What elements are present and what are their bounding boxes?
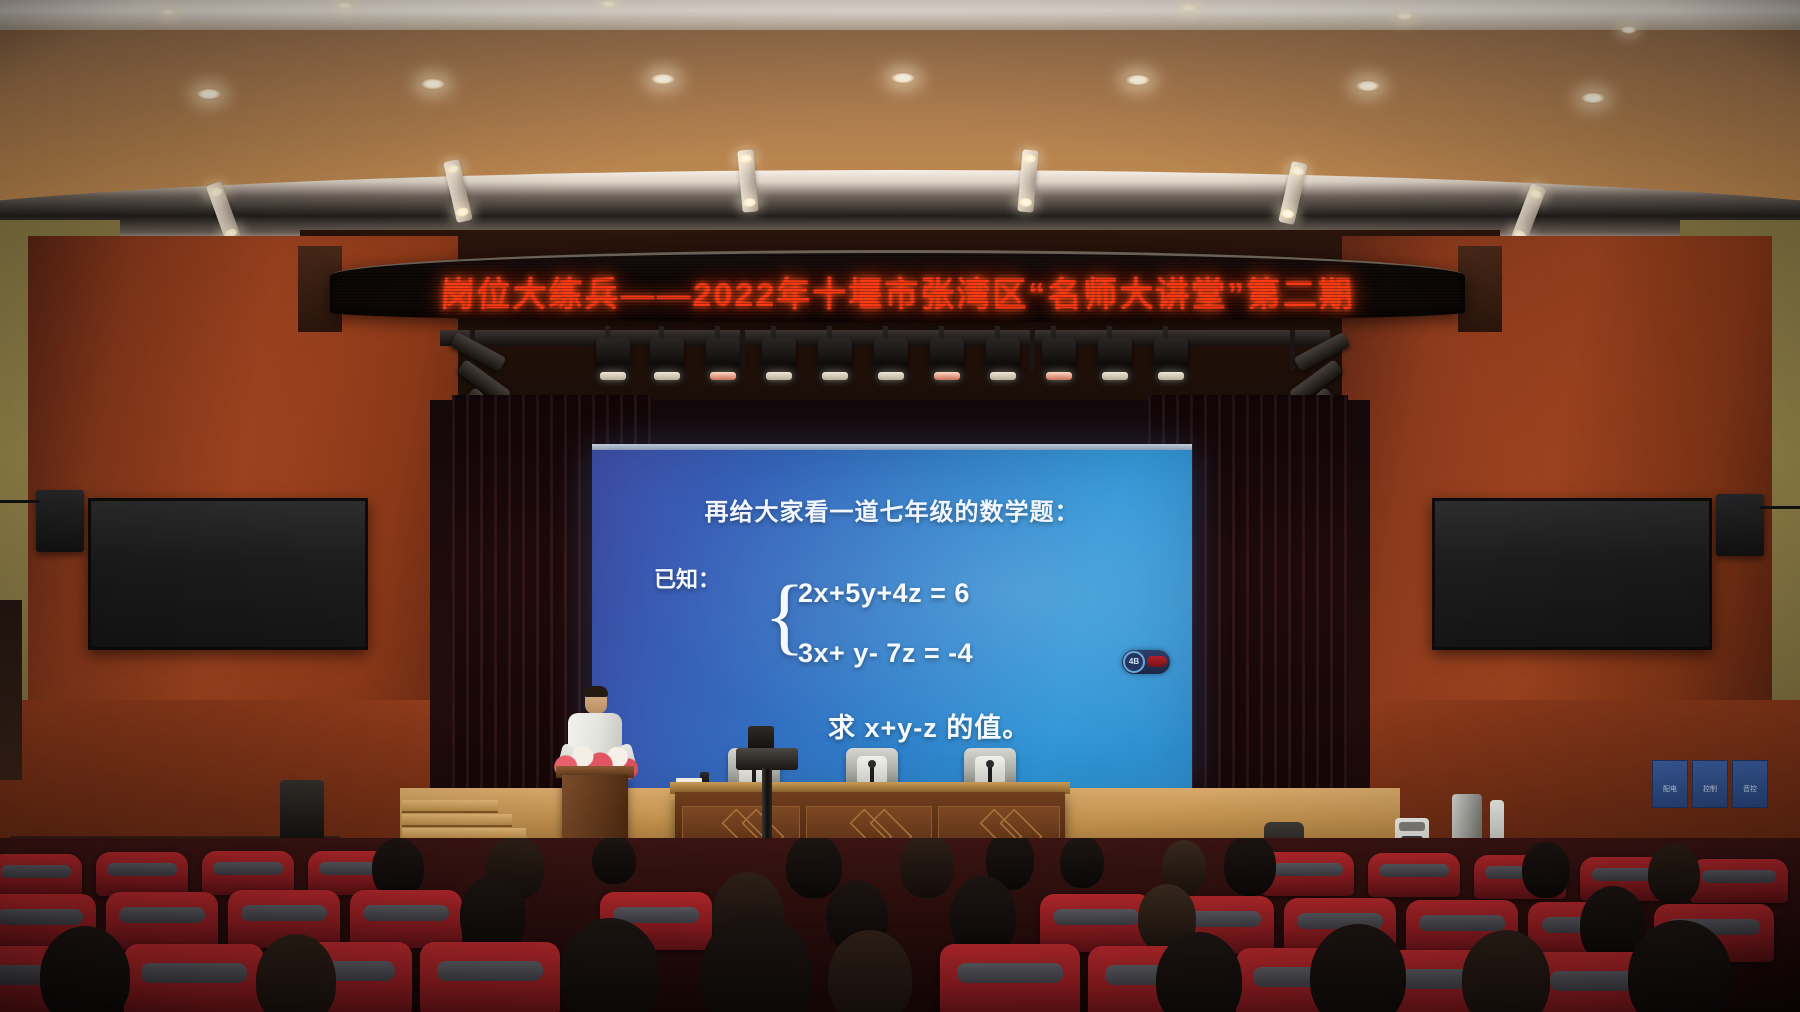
ceiling-spot-light (1620, 26, 1637, 34)
led-banner-panel: 岗位大练兵——2022年十堰市张湾区“名师大讲堂”第二期 (330, 250, 1465, 322)
ceiling-spot-light (1580, 92, 1606, 104)
slide-badge-pill (1147, 656, 1167, 667)
speaker-hair (584, 686, 608, 697)
truss-pole (1030, 330, 1035, 370)
audience-head (900, 838, 954, 898)
wall-control-panel[interactable]: 控制 (1692, 760, 1728, 808)
wall-control-panel-label: 配电 (1653, 784, 1687, 794)
audience-head (1224, 838, 1276, 896)
pa-speaker-right (1716, 494, 1764, 556)
projection-screen: 再给大家看一道七年级的数学题： 已知： { 2x+5y+4z = 6 3x+ y… (592, 450, 1192, 788)
slide-equation-2: 3x+ y- 7z = -4 (798, 638, 973, 669)
ceiling-spot-light (600, 0, 617, 8)
wall-display-left (88, 498, 368, 650)
auditorium-seat[interactable] (106, 892, 218, 950)
wall-control-panel-label: 音控 (1733, 784, 1767, 794)
audience-head (592, 838, 636, 884)
stage-spotlight (930, 338, 964, 382)
auditorium-seat[interactable] (1690, 859, 1788, 903)
stage-spotlight (762, 338, 796, 382)
slide-given-label: 已知： (654, 562, 720, 594)
tripod-head (736, 748, 798, 770)
ceiling-spot-light (1396, 12, 1413, 20)
slide-title: 再给大家看一道七年级的数学题： (592, 492, 1192, 527)
ceiling-spot-light (650, 73, 676, 85)
audience-area (0, 838, 1800, 1012)
audience-head (786, 838, 842, 898)
ceiling-spot-light (160, 8, 177, 16)
stage-spotlight (874, 338, 908, 382)
auditorium-seat[interactable] (202, 851, 294, 895)
auditorium-seat[interactable] (350, 890, 462, 948)
auditorium-seat[interactable] (96, 852, 188, 896)
ceiling-spot-light (420, 78, 446, 90)
audience-head (828, 930, 912, 1012)
stage-spotlight (1098, 338, 1132, 382)
auditorium-seat[interactable] (0, 854, 82, 898)
stage-spotlight (1154, 338, 1188, 382)
auditorium-seat[interactable] (124, 944, 264, 1012)
audience-head (1648, 844, 1700, 904)
stage-spotlight (986, 338, 1020, 382)
stage-spotlight (1042, 338, 1076, 382)
ceiling-band-upper (0, 0, 1800, 30)
pa-mount-left (0, 500, 40, 503)
ceiling-spot-light (1180, 4, 1197, 12)
pa-mount-right (1760, 506, 1800, 509)
ceiling-spot-light (1125, 74, 1151, 86)
ceiling-spot-light (196, 88, 222, 100)
led-banner: 岗位大练兵——2022年十堰市张湾区“名师大讲堂”第二期 (330, 250, 1465, 322)
slide-badge-text: 4B (1123, 651, 1145, 673)
wall-control-panel[interactable]: 音控 (1732, 760, 1768, 808)
audience-head (1522, 842, 1570, 898)
auditorium-seat[interactable] (940, 944, 1080, 1012)
slide-watermark-badge: 4B (1122, 650, 1170, 674)
ceiling-spot-light (890, 72, 916, 84)
audience-head (372, 838, 424, 898)
auditorium-seat[interactable] (420, 942, 560, 1012)
slide-question: 求 x+y-z 的值。 (828, 706, 1030, 745)
pa-speaker-left (36, 490, 84, 552)
audience-head (1060, 838, 1104, 888)
side-door (0, 600, 22, 780)
auditorium-seat[interactable] (1262, 852, 1354, 896)
ceiling-spot-light (336, 2, 353, 10)
stage-spotlight (650, 338, 684, 382)
auditorium-scene: 岗位大练兵——2022年十堰市张湾区“名师大讲堂”第二期 再给大家看一道七年级的… (0, 0, 1800, 1012)
side-camera-rig (280, 780, 324, 840)
stage-spotlight (706, 338, 740, 382)
truss-pole (740, 330, 745, 370)
banner-text: 岗位大练兵——2022年十堰市张湾区“名师大讲堂”第二期 (330, 267, 1465, 316)
wall-control-panel[interactable]: 配电 (1652, 760, 1688, 808)
auditorium-seat[interactable] (1368, 853, 1460, 897)
wall-display-right (1432, 498, 1712, 650)
stage-spotlight (596, 338, 630, 382)
slide-equation-1: 2x+5y+4z = 6 (798, 578, 970, 609)
ceiling-spot-light (1355, 80, 1381, 92)
wall-control-panel-label: 控制 (1693, 784, 1727, 794)
stage-spotlight (818, 338, 852, 382)
